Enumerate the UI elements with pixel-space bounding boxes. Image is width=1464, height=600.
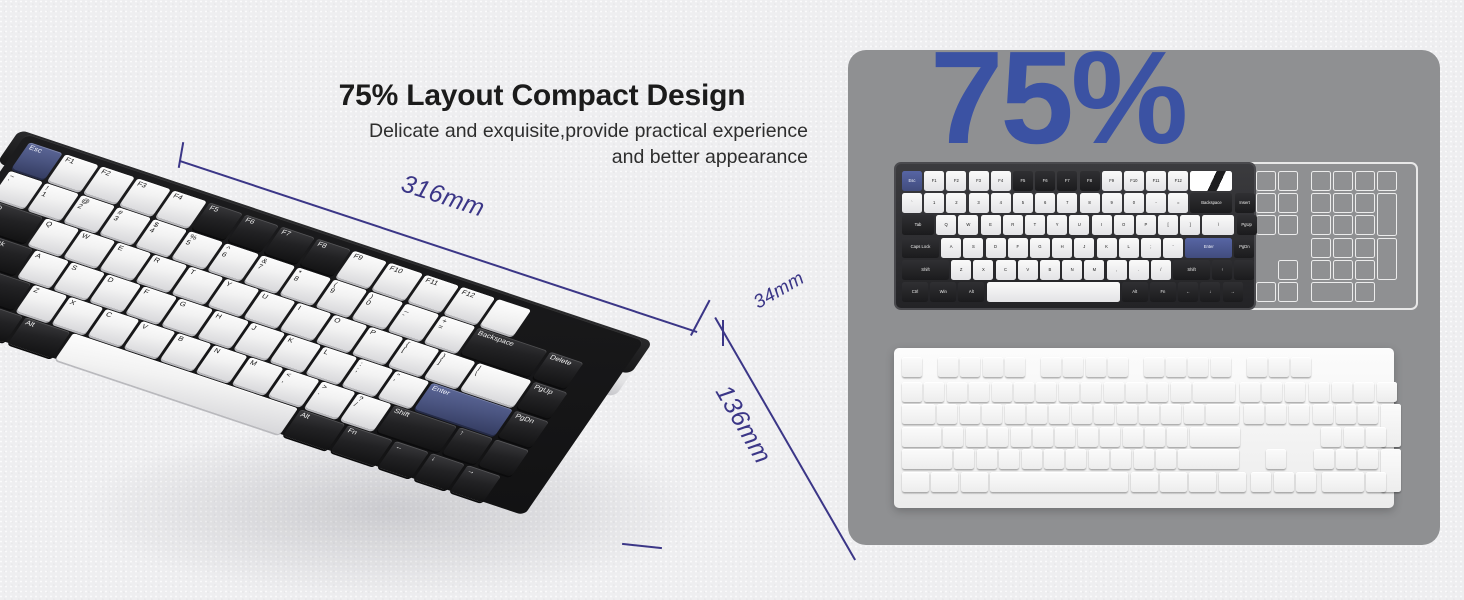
keycap-legend: Fn: [346, 428, 359, 437]
compact-keycap-blank[interactable]: ↓: [1200, 282, 1220, 302]
keycap-legend: * 8: [292, 270, 304, 283]
keycap-legend: H: [214, 313, 223, 321]
keycap-legend: R: [152, 257, 161, 265]
compact-keycap-alt[interactable]: Alt: [958, 282, 984, 302]
keycap-legend: Y: [224, 281, 233, 289]
keycap-legend: | \: [472, 365, 482, 378]
compact-keycap-1[interactable]: 1: [924, 193, 944, 213]
compact-keycap-shift[interactable]: Shift: [902, 260, 949, 280]
compact-keycap-o[interactable]: O: [1114, 215, 1134, 235]
compact-keycap-3[interactable]: 3: [969, 193, 989, 213]
compact-keycap-blank[interactable]: →: [1223, 282, 1243, 302]
compact-keycap-z[interactable]: Z: [951, 260, 971, 280]
keycap-legend: ( 9: [328, 282, 340, 295]
keycap-legend: $ 4: [148, 222, 160, 235]
compact-keycap-e[interactable]: E: [981, 215, 1001, 235]
keycap-legend: J: [250, 325, 258, 332]
keycap-legend: F1: [63, 157, 76, 166]
dimension-label-height: 136mm: [709, 380, 777, 469]
compact-keycap-b[interactable]: B: [1040, 260, 1060, 280]
compact-keycap-blank[interactable]: ;: [1141, 238, 1161, 258]
compact-keycap-w[interactable]: W: [958, 215, 978, 235]
compact-keycap-q[interactable]: Q: [936, 215, 956, 235]
compact-keyboard-row: ShiftZXCVBNM,./Shift↑: [902, 260, 1248, 280]
compact-keycap-f10[interactable]: F10: [1124, 171, 1144, 191]
compact-keycap-esc[interactable]: Esc: [902, 171, 922, 191]
compact-keyboard-row: EscF1F2F3F4F5F6F7F8F9F10F11F12: [902, 171, 1248, 191]
keycap-legend: : ;: [354, 361, 364, 374]
compact-keycap-enter[interactable]: Enter: [1185, 238, 1232, 258]
compact-keycap-5[interactable]: 5: [1013, 193, 1033, 213]
compact-keycap-t[interactable]: T: [1025, 215, 1045, 235]
keycap-legend: M: [248, 360, 258, 368]
dimension-label-width: 316mm: [398, 169, 489, 223]
keycap-legend: PgDn: [513, 413, 535, 425]
compact-keycap-f4[interactable]: F4: [991, 171, 1011, 191]
dimension-line-depth: [690, 300, 711, 336]
keycap-legend: →: [465, 468, 476, 476]
keycap-legend: Shift: [392, 408, 411, 419]
watermark-75-percent: 75%: [930, 50, 1185, 164]
keycap-legend: F3: [135, 181, 148, 190]
compact-keycap-2[interactable]: 2: [946, 193, 966, 213]
compact-keycap-fn[interactable]: Fn: [1150, 282, 1176, 302]
keycap-legend: F7: [279, 229, 292, 238]
compact-keycap-m[interactable]: M: [1084, 260, 1104, 280]
compact-keycap-4[interactable]: 4: [991, 193, 1011, 213]
compact-keycap-backspace[interactable]: Backspace: [1190, 193, 1232, 213]
dimension-tick-right: [722, 320, 724, 346]
keycap-legend: F8: [316, 241, 329, 250]
keycap-legend: U: [260, 293, 269, 301]
keycap-legend: ↓: [429, 455, 437, 462]
keycap-legend: < ,: [280, 372, 292, 385]
compact-keycap-h[interactable]: H: [1052, 238, 1072, 258]
keycap-legend: F6: [243, 217, 256, 226]
compact-keycap-f[interactable]: F: [1008, 238, 1028, 258]
compact-keyboard-top-view: EscF1F2F3F4F5F6F7F8F9F10F11F12`123456789…: [894, 162, 1256, 310]
keycap-legend: F4: [171, 193, 184, 202]
keycap-legend: Alt: [24, 320, 37, 329]
compact-keyboard-row: TabQWERTYUIOP[]\PgUp: [902, 215, 1248, 235]
compact-keycap-j[interactable]: J: [1074, 238, 1094, 258]
keycap-legend: E: [116, 245, 125, 253]
compact-keycap-a[interactable]: A: [941, 238, 961, 258]
compact-keycap-p[interactable]: P: [1136, 215, 1156, 235]
keycap-legend: @ 2: [75, 197, 91, 211]
compact-keycap-blank[interactable]: ↑: [1212, 260, 1232, 280]
keycap-legend: G: [178, 301, 188, 309]
compact-keycap-r[interactable]: R: [1003, 215, 1023, 235]
compact-keycap-blank[interactable]: [1234, 260, 1254, 280]
compact-keycap-7[interactable]: 7: [1057, 193, 1077, 213]
fullsize-keyboard-top-view: [894, 348, 1394, 508]
keycap-legend: ? /: [352, 396, 364, 409]
keycap-legend: S: [70, 265, 79, 273]
compact-keycap-f9[interactable]: F9: [1102, 171, 1122, 191]
keycap-legend: F5: [207, 205, 220, 214]
keycap-legend: Q: [44, 221, 54, 229]
compact-keycap-ctrl[interactable]: Ctrl: [902, 282, 928, 302]
compact-keycap-x[interactable]: X: [973, 260, 993, 280]
keycap-legend: C: [104, 311, 113, 319]
keycap-legend: > .: [316, 384, 328, 397]
compact-keycap-f11[interactable]: F11: [1146, 171, 1166, 191]
compact-keycap-k[interactable]: K: [1097, 238, 1117, 258]
keycap-legend: Z: [32, 287, 41, 294]
compact-keycap-f3[interactable]: F3: [969, 171, 989, 191]
compact-keycap-g[interactable]: G: [1030, 238, 1050, 258]
compact-keycap-u[interactable]: U: [1069, 215, 1089, 235]
keycap-legend: Alt: [299, 412, 312, 421]
compact-keycap-shift[interactable]: Shift: [1173, 260, 1210, 280]
dimension-label-depth: 34mm: [750, 268, 808, 314]
keycap-legend: A: [34, 253, 43, 261]
keycap-legend: X: [68, 299, 77, 307]
keycap-legend: K: [286, 337, 295, 345]
keycap-legend: D: [106, 277, 115, 285]
compact-keycap-0[interactable]: 0: [1124, 193, 1144, 213]
keycap-legend: _ -: [400, 306, 412, 319]
keycap-legend: ↑: [458, 430, 466, 437]
compact-keycap-insert[interactable]: Insert: [1235, 193, 1255, 213]
keycap-legend: } ]: [436, 353, 447, 366]
comparison-panel: 75% EscF1F2F3F4F5F6F7F8F9F10F11F12`12345…: [848, 50, 1440, 545]
keycap-legend: F10: [388, 265, 405, 275]
keycap-legend: F9: [352, 253, 365, 262]
keycap-legend: { [: [400, 341, 411, 354]
compact-keycap-tab[interactable]: Tab: [902, 215, 934, 235]
keycap-legend: I: [296, 305, 302, 312]
compact-keycap-y[interactable]: Y: [1047, 215, 1067, 235]
compact-keycap-6[interactable]: 6: [1035, 193, 1055, 213]
compact-keycap-blank[interactable]: ←: [1178, 282, 1198, 302]
compact-keycap-blank[interactable]: ,: [1107, 260, 1127, 280]
keycap-legend: ) 0: [364, 294, 376, 307]
compact-keycap-f12[interactable]: F12: [1168, 171, 1188, 191]
compact-keycap-blank[interactable]: /: [1151, 260, 1171, 280]
compact-keycap-i[interactable]: I: [1092, 215, 1112, 235]
compact-keyboard-row: Caps LockASDFGHJKL;'EnterPgDn: [902, 238, 1248, 258]
compact-keycap-pgdn[interactable]: PgDn: [1234, 238, 1254, 258]
compact-keycap--[interactable]: -: [1146, 193, 1166, 213]
keycap-legend: P: [368, 329, 377, 337]
compact-keycap-blank[interactable]: [1190, 171, 1232, 191]
compact-keyboard-row: CtrlWinAltAltFn←↓→: [902, 282, 1248, 302]
compact-keycap-9[interactable]: 9: [1102, 193, 1122, 213]
compact-keycap-blank[interactable]: ]: [1180, 215, 1200, 235]
keycap-legend: # 3: [112, 209, 124, 222]
keycap-legend: N: [212, 348, 221, 356]
dimension-tick-left: [178, 142, 184, 168]
compact-keycap-blank[interactable]: .: [1129, 260, 1149, 280]
compact-keycap-s[interactable]: S: [963, 238, 983, 258]
keycap-legend: W: [80, 233, 91, 241]
compact-keyboard-row: `1234567890-=BackspaceInsert: [902, 193, 1248, 213]
keycap-legend: PgUp: [532, 384, 554, 396]
compact-keycap-blank[interactable]: `: [902, 193, 922, 213]
keycap-legend: ! 1: [39, 185, 51, 198]
keycap-legend: & 7: [256, 258, 269, 272]
compact-keycap-f8[interactable]: F8: [1080, 171, 1100, 191]
keycap-legend: Delete: [548, 354, 573, 367]
compact-keycap-blank[interactable]: ': [1163, 238, 1183, 258]
keycap-legend: F: [142, 289, 151, 296]
compact-keycap-blank[interactable]: [987, 282, 1120, 302]
compact-keycap-l[interactable]: L: [1119, 238, 1139, 258]
keycap-legend: ←: [393, 443, 404, 451]
compact-keycap-blank[interactable]: \: [1202, 215, 1234, 235]
keycap-legend: T: [188, 269, 197, 276]
keycap-legend: " ': [390, 373, 401, 386]
compact-keycap-f7[interactable]: F7: [1057, 171, 1077, 191]
keycap-legend: Tab: [0, 202, 4, 212]
keycap-legend: L: [322, 349, 330, 356]
compact-keycap-n[interactable]: N: [1062, 260, 1082, 280]
keycap-legend: ^ 6: [220, 246, 232, 259]
compact-keycap-f1[interactable]: F1: [924, 171, 944, 191]
keycap-legend: V: [140, 323, 149, 331]
keycap-legend: B: [176, 335, 185, 343]
compact-keycap-f5[interactable]: F5: [1013, 171, 1033, 191]
keyboard-3d-stage: EscF1F2F3F4F5F6F7F8F9F10F11F12~ `! 1@ 2#…: [0, 120, 800, 590]
compact-keycap-f6[interactable]: F6: [1035, 171, 1055, 191]
compact-keycap-alt[interactable]: Alt: [1122, 282, 1148, 302]
compact-keycap-d[interactable]: D: [986, 238, 1006, 258]
compact-keycap-f2[interactable]: F2: [946, 171, 966, 191]
compact-keycap-blank[interactable]: =: [1168, 193, 1188, 213]
keycap-legend: O: [332, 317, 342, 325]
keycap-legend: + =: [436, 318, 448, 331]
keycap-legend: ~ `: [3, 173, 15, 186]
page-title: 75% Layout Compact Design: [262, 78, 822, 113]
compact-keycap-c[interactable]: C: [996, 260, 1016, 280]
keycap-legend: % 5: [184, 234, 199, 248]
keycap-legend: F12: [460, 289, 477, 299]
compact-keycap-pgup[interactable]: PgUp: [1237, 215, 1257, 235]
keycap-legend: Esc: [27, 145, 43, 155]
compact-keycap-8[interactable]: 8: [1080, 193, 1100, 213]
ghost-outline-extension: [1250, 162, 1418, 310]
compact-keycap-win[interactable]: Win: [930, 282, 956, 302]
compact-keycap-blank[interactable]: [: [1158, 215, 1178, 235]
compact-keycap-caps-lock[interactable]: Caps Lock: [902, 238, 939, 258]
keycap-legend: F2: [99, 169, 112, 178]
keycap-legend: Enter: [430, 385, 451, 397]
keycap-legend: F11: [424, 277, 440, 287]
compact-keycap-v[interactable]: V: [1018, 260, 1038, 280]
